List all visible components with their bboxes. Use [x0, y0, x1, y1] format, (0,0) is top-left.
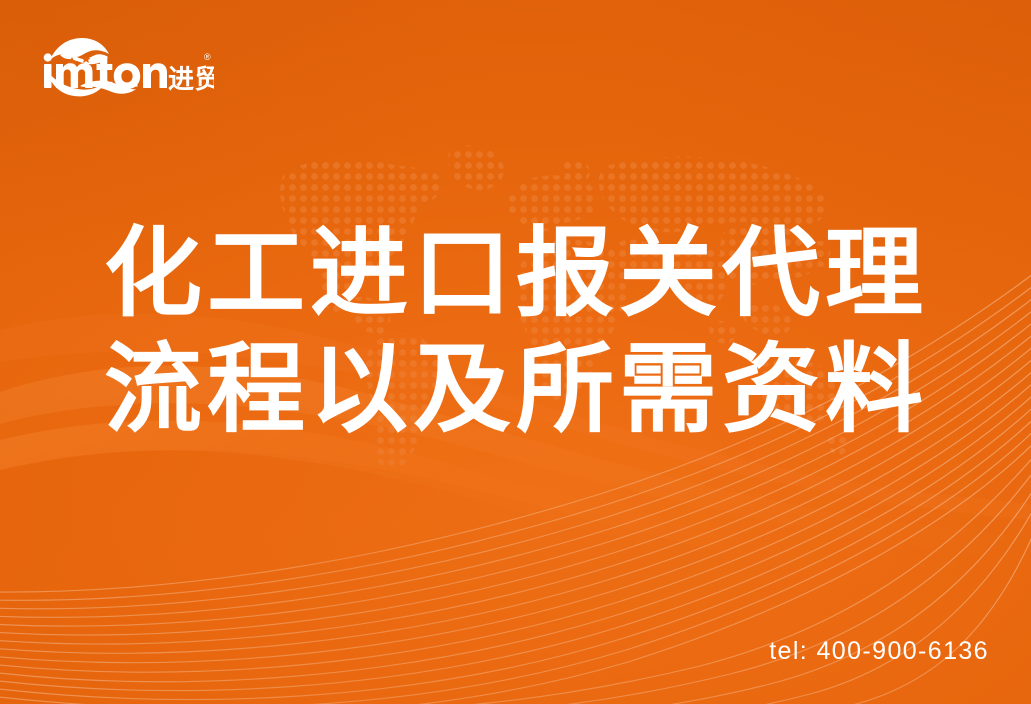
headline-line-1: 化工进口报关代理: [104, 215, 954, 331]
logo-wordmark-chinese: 进贸通: [168, 64, 214, 94]
contact-phone[interactable]: tel: 400-900-6136: [769, 637, 989, 666]
promo-banner: 进贸通 ® 化工进口报关代理 流程以及所需资料 tel: 400-900-613…: [0, 0, 1031, 704]
logo-wordmark-imton: [44, 53, 167, 89]
headline-line-2: 流程以及所需资料: [104, 331, 954, 447]
brand-logo[interactable]: 进贸通 ®: [38, 26, 214, 104]
page-title: 化工进口报关代理 流程以及所需资料: [104, 215, 954, 447]
registered-mark: ®: [204, 52, 211, 62]
